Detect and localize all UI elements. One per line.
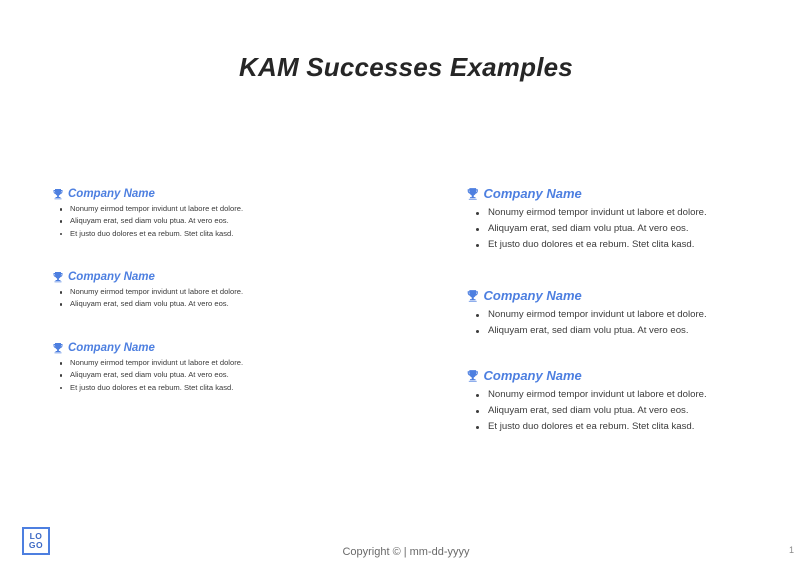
success-block: Company Name Nonumy eirmod tempor invidu…	[52, 342, 243, 394]
list-item: Et justo duo dolores et ea rebum. Stet c…	[488, 419, 707, 435]
page-number: 1	[789, 545, 794, 555]
company-name-label: Company Name	[484, 368, 582, 383]
list-item: Nonumy eirmod tempor invidunt ut labore …	[70, 203, 243, 215]
list-item: Aliquyam erat, sed diam volu ptua. At ve…	[488, 323, 707, 339]
list-item: Aliquyam erat, sed diam volu ptua. At ve…	[488, 403, 707, 419]
company-heading: Company Name	[466, 288, 707, 303]
bullet-list: Nonumy eirmod tempor invidunt ut labore …	[52, 286, 243, 311]
company-heading: Company Name	[52, 342, 243, 354]
success-block: Company Name Nonumy eirmod tempor invidu…	[52, 271, 243, 311]
list-item: Nonumy eirmod tempor invidunt ut labore …	[70, 357, 243, 369]
company-name-label: Company Name	[68, 342, 155, 354]
bullet-list: Nonumy eirmod tempor invidunt ut labore …	[466, 387, 707, 436]
company-heading: Company Name	[466, 368, 707, 383]
trophy-icon	[466, 369, 480, 383]
list-item: Nonumy eirmod tempor invidunt ut labore …	[488, 205, 707, 221]
list-item: Aliquyam erat, sed diam volu ptua. At ve…	[70, 298, 243, 310]
trophy-icon	[52, 342, 64, 354]
company-name-label: Company Name	[484, 288, 582, 303]
company-name-label: Company Name	[68, 271, 155, 283]
success-block: Company Name Nonumy eirmod tempor invidu…	[52, 188, 243, 240]
bullet-list: Nonumy eirmod tempor invidunt ut labore …	[52, 357, 243, 394]
list-item: Et justo duo dolores et ea rebum. Stet c…	[70, 228, 243, 240]
success-block: Company Name Nonumy eirmod tempor invidu…	[466, 186, 707, 254]
company-heading: Company Name	[52, 188, 243, 200]
success-block: Company Name Nonumy eirmod tempor invidu…	[466, 368, 707, 436]
success-block: Company Name Nonumy eirmod tempor invidu…	[466, 288, 707, 339]
list-item: Et justo duo dolores et ea rebum. Stet c…	[70, 382, 243, 394]
list-item: Nonumy eirmod tempor invidunt ut labore …	[488, 307, 707, 323]
trophy-icon	[52, 188, 64, 200]
company-heading: Company Name	[52, 271, 243, 283]
company-heading: Company Name	[466, 186, 707, 201]
page-title: KAM Successes Examples	[0, 52, 812, 83]
company-name-label: Company Name	[484, 186, 582, 201]
copyright-text: Copyright © | mm-dd-yyyy	[0, 546, 812, 558]
list-item: Aliquyam erat, sed diam volu ptua. At ve…	[488, 221, 707, 237]
bullet-list: Nonumy eirmod tempor invidunt ut labore …	[466, 205, 707, 254]
list-item: Nonumy eirmod tempor invidunt ut labore …	[488, 387, 707, 403]
list-item: Et justo duo dolores et ea rebum. Stet c…	[488, 237, 707, 253]
trophy-icon	[52, 271, 64, 283]
bullet-list: Nonumy eirmod tempor invidunt ut labore …	[52, 203, 243, 240]
slide-canvas: KAM Successes Examples Company Name Nonu…	[0, 0, 812, 575]
trophy-icon	[466, 289, 480, 303]
company-name-label: Company Name	[68, 188, 155, 200]
list-item: Aliquyam erat, sed diam volu ptua. At ve…	[70, 369, 243, 381]
trophy-icon	[466, 187, 480, 201]
bullet-list: Nonumy eirmod tempor invidunt ut labore …	[466, 307, 707, 339]
list-item: Nonumy eirmod tempor invidunt ut labore …	[70, 286, 243, 298]
list-item: Aliquyam erat, sed diam volu ptua. At ve…	[70, 215, 243, 227]
